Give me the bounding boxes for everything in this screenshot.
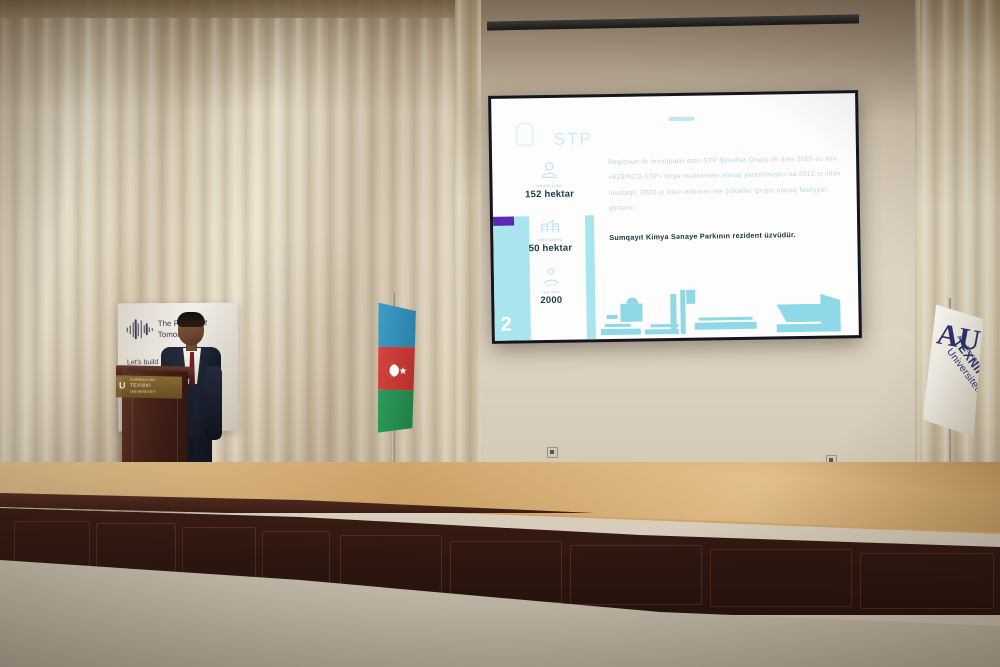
people-icon: [540, 266, 562, 288]
presentation-slide: 2 STP ümumi ərazi 152 hektar tikili sahə…: [491, 93, 859, 341]
curtain-rail: [0, 0, 470, 18]
lightbulb-icon: [515, 122, 533, 146]
slide-divider-dash: [668, 117, 694, 121]
wall-outlet-left: [547, 447, 558, 458]
projection-screen: 2 STP ümumi ərazi 152 hektar tikili sahə…: [488, 90, 862, 344]
slide-stat-value: 152 hektar: [511, 189, 589, 201]
slide-stat-value: 50 hektar: [511, 243, 589, 255]
stage-curtain-middle: [455, 0, 481, 500]
slide-title: STP: [554, 129, 593, 150]
conference-hall-photo: 2 STP ümumi ərazi 152 hektar tikili sahə…: [0, 0, 1000, 667]
slide-body: Regionun ilk texnoparkı olan STP Şirkətl…: [608, 151, 843, 242]
slide-stat-value: 2000: [512, 295, 590, 307]
podium-emblem-initial: U: [119, 381, 126, 390]
slide-stat-area: ümumi ərazi 152 hektar: [510, 159, 589, 201]
speaker-arm-right: [204, 366, 222, 440]
slide-highlight: Sumqayıt Kimya Sənaye Parkının rezident …: [609, 229, 843, 242]
speaker-hair: [177, 312, 205, 327]
slide-stat-built: tikili sahəsi 50 hektar: [511, 213, 590, 255]
location-pin-icon: [538, 160, 560, 182]
azerbaijan-flag: [374, 303, 416, 434]
stage-curtain-right: [920, 0, 1000, 520]
slide-paragraph: Regionun ilk texnoparkı olan STP Şirkətl…: [608, 151, 843, 217]
stage-curtain-left: [0, 0, 470, 512]
factory-icon: [539, 214, 561, 236]
cityscape-illustration: [598, 273, 855, 335]
slide-page-number: 2: [501, 315, 512, 335]
podium-emblem: U AZƏRBAYCAN TEXNİKİ UNİVERSİTETİ: [116, 375, 182, 398]
flag-band-green: [374, 390, 415, 434]
podium-emblem-line3: UNİVERSİTETİ: [130, 390, 179, 396]
slide-stat-employees: işçi sayı 2000: [512, 265, 591, 307]
